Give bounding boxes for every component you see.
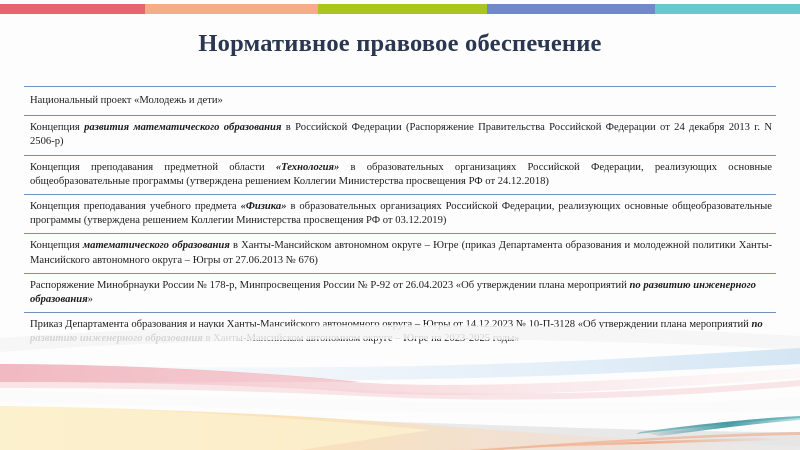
table-row: Национальный проект «Молодежь и дети» (24, 86, 776, 115)
body-text: Концепция преподавания предметной област… (30, 162, 276, 173)
top-color-bar (0, 4, 800, 14)
body-text: Концепция (30, 122, 84, 133)
normative-documents-table: Национальный проект «Молодежь и дети»Кон… (24, 86, 776, 352)
emphasis-text: развития математического образования (84, 122, 281, 133)
color-bar-segment-teal (655, 4, 800, 14)
row-prikaz-10p3128: Приказ Департамента образования и науки … (30, 318, 772, 346)
color-bar-segment-lime (318, 4, 487, 14)
row-fizika: Концепция преподавания учебного предмета… (30, 200, 772, 228)
emphasis-text: «Физика» (241, 201, 287, 212)
body-text: Национальный проект «Молодежь и дети» (30, 95, 223, 106)
body-text: Распоряжение Минобрнауки России № 178-р,… (30, 280, 630, 291)
table-row: Распоряжение Минобрнауки России № 178-р,… (24, 273, 776, 312)
page-title: Нормативное правовое обеспечение (0, 30, 800, 58)
slide-canvas: Нормативное правовое обеспечение Национа… (0, 0, 800, 450)
emphasis-text: «Технология» (276, 162, 339, 173)
color-bar-segment-red (0, 4, 145, 14)
row-math-hmao: Концепция математического образования в … (30, 239, 772, 267)
row-rasporyazhenie-178r: Распоряжение Минобрнауки России № 178-р,… (30, 279, 772, 307)
table-row: Концепция преподавания предметной област… (24, 155, 776, 194)
table-row: Концепция преподавания учебного предмета… (24, 194, 776, 233)
body-text: Приказ Департамента образования и науки … (30, 319, 751, 330)
body-text: Концепция преподавания учебного предмета (30, 201, 241, 212)
emphasis-text: математического образования (83, 240, 230, 251)
table-row: Приказ Департамента образования и науки … (24, 312, 776, 351)
table-row: Концепция математического образования в … (24, 233, 776, 272)
row-natsproekt: Национальный проект «Молодежь и дети» (30, 94, 772, 108)
table-row: Концепция развития математического образ… (24, 115, 776, 154)
body-text: » (88, 294, 93, 305)
body-text: в Ханты-Мансийском автономном округе – Ю… (203, 333, 520, 344)
row-math-rf: Концепция развития математического образ… (30, 121, 772, 149)
color-bar-segment-blue (487, 4, 655, 14)
row-tehnologiya: Концепция преподавания предметной област… (30, 161, 772, 189)
body-text: Концепция (30, 240, 83, 251)
color-bar-segment-salmon (145, 4, 318, 14)
